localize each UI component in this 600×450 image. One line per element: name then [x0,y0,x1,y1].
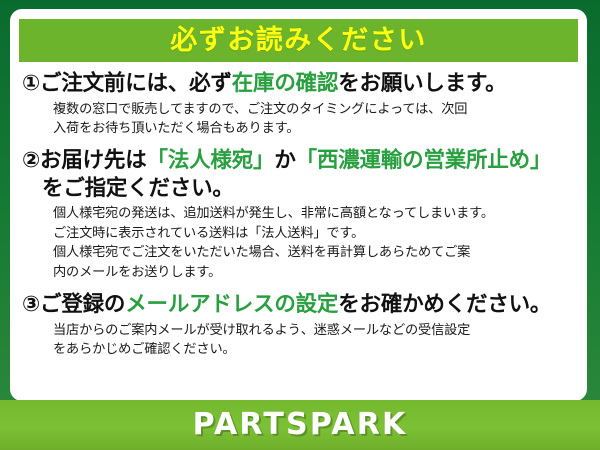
item-2-sub-line-2: ご注文時に表示されている送料は「法人送料」です。 [53,224,575,243]
brand-logo-text: PARTSPARK [193,410,408,440]
item-2-sub-line-1: 個人様宅宛の発送は、追加送料が発生し、非常に高額となってしまいます。 [53,204,575,223]
item-2-sub-line-4: 内のメールをお送りします。 [53,263,575,282]
notice-item-2: ②お届け先は「法人様宛」か「西濃運輸の営業所止め」 をご指定ください。 個人様宅… [22,147,575,282]
white-content-panel: 必ずお読みください ①ご注文前には、必ず在庫の確認をお願いします。 複数の窓口で… [10,9,587,401]
item-2-sub-line-3: 個人様宅宛でご注文をいただいた場合、送料を再計算しあらためてご案 [53,243,575,262]
notice-item-3: ③ご登録のメールアドレスの設定をお確かめください。 当店からのご案内メールが受け… [22,291,575,359]
header-banner: 必ずお読みください [19,19,578,62]
notice-item-1-heading: ①ご注文前には、必ず在庫の確認をお願いします。 [22,70,575,98]
item-1-sub-line-1: 複数の窓口で販売してますので、ご注文のタイミングによっては、次回 [53,100,575,119]
item-3-sub-line-1: 当店からのご案内メールが受け取れるよう、迷惑メールなどの受信設定 [53,321,575,340]
item-2-heading-highlight-1: 「法人様宛」 [147,148,275,173]
item-2-heading-line-2: をご指定ください。 [22,175,575,203]
item-2-heading-highlight-2: 「西濃運輸の営業所止め」 [296,148,552,173]
footer-brand-bar: PARTSPARK [0,400,600,450]
notice-item-2-description: 個人様宅宛の発送は、追加送料が発生し、非常に高額となってしまいます。 ご注文時に… [22,204,575,282]
notice-item-1-description: 複数の窓口で販売してますので、ご注文のタイミングによっては、次回 入荷をお待ち頂… [22,100,575,139]
item-2-marker: ② [22,148,40,173]
banner-title: 必ずお読みください [170,27,427,54]
item-3-heading-highlight: メールアドレスの設定 [125,292,338,317]
notice-item-2-heading: ②お届け先は「法人様宛」か「西濃運輸の営業所止め」 をご指定ください。 [22,147,575,202]
notice-items-list: ①ご注文前には、必ず在庫の確認をお願いします。 複数の窓口で販売してますので、ご… [10,67,587,363]
item-2-heading-part-1: お届け先は [40,148,147,173]
item-1-marker: ① [22,71,40,96]
notice-item-1: ①ご注文前には、必ず在庫の確認をお願いします。 複数の窓口で販売してますので、ご… [22,70,575,138]
item-1-heading-highlight: 在庫の確認 [232,71,339,96]
item-3-marker: ③ [22,292,40,317]
item-1-heading-part-1: ご注文前には、必ず [40,71,232,96]
item-1-sub-line-2: 入荷をお待ち頂いただく場合もあります。 [53,119,575,138]
item-3-heading-part-3: をお確かめください。 [338,292,551,317]
item-3-sub-line-2: をあらかじめご確認ください。 [53,340,575,359]
item-3-heading-part-1: ご登録の [40,292,125,317]
notice-item-3-description: 当店からのご案内メールが受け取れるよう、迷惑メールなどの受信設定 をあらかじめご… [22,321,575,360]
notice-banner-image: 必ずお読みください ①ご注文前には、必ず在庫の確認をお願いします。 複数の窓口で… [0,0,600,450]
notice-item-3-heading: ③ご登録のメールアドレスの設定をお確かめください。 [22,291,575,319]
item-1-heading-part-3: をお願いします。 [338,71,506,96]
item-2-heading-part-3: か [274,148,295,173]
